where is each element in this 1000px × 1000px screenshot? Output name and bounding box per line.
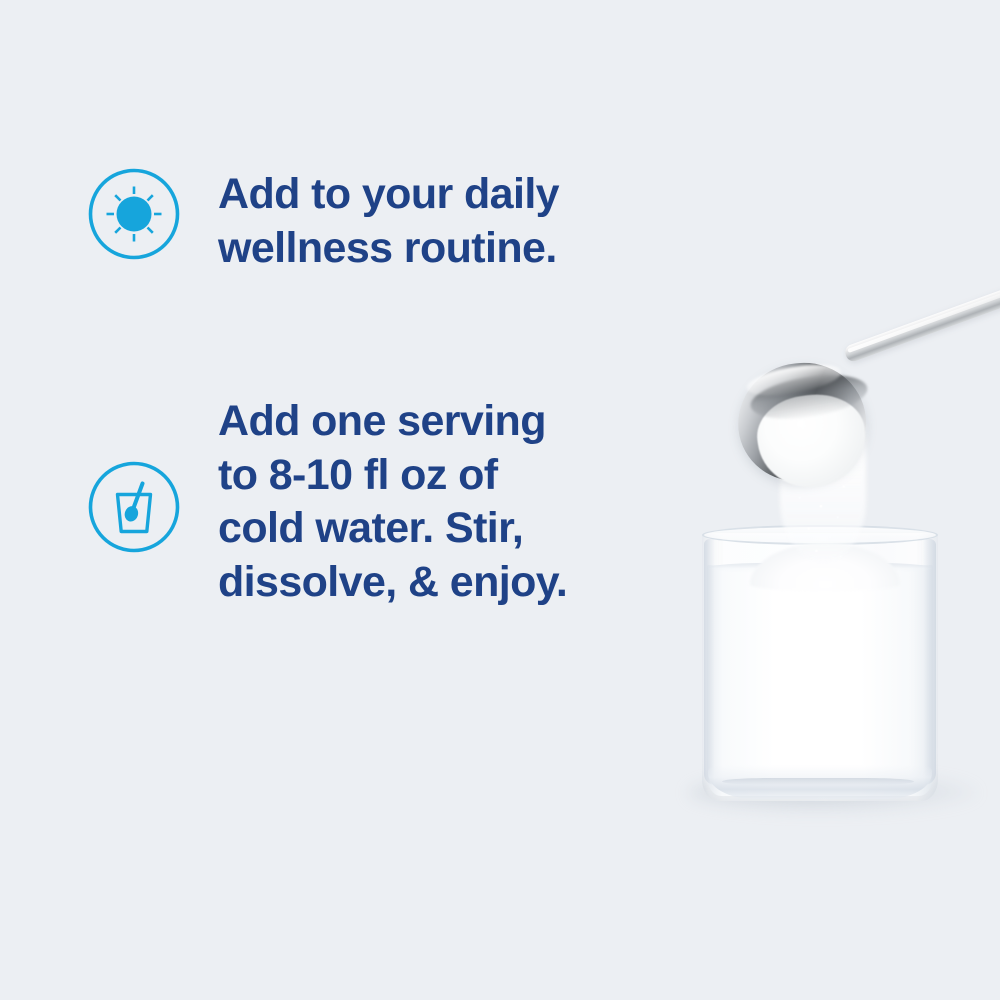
instruction-item-mixing-directions: Add one serving to 8-10 fl oz of cold wa… xyxy=(88,395,567,609)
instruction-item-daily-routine: Add to your daily wellness routine. xyxy=(88,168,559,275)
glass-with-spoon-icon xyxy=(88,461,180,553)
glass-right-edge xyxy=(923,539,936,785)
measuring-scoop: 2.5 xyxy=(728,333,988,463)
instruction-graphic: Add to your daily wellness routine. Add … xyxy=(0,0,1000,1000)
product-usage-photo: 2.5 xyxy=(640,275,1000,845)
instruction-text-daily-routine: Add to your daily wellness routine. xyxy=(218,168,559,275)
sun-icon xyxy=(88,168,180,260)
glass-left-edge xyxy=(704,539,715,785)
glass-base-reflection xyxy=(722,778,914,785)
scoop-handle xyxy=(843,262,1000,363)
glass-water xyxy=(707,565,933,796)
instruction-text-mixing-directions: Add one serving to 8-10 fl oz of cold wa… xyxy=(218,395,567,609)
